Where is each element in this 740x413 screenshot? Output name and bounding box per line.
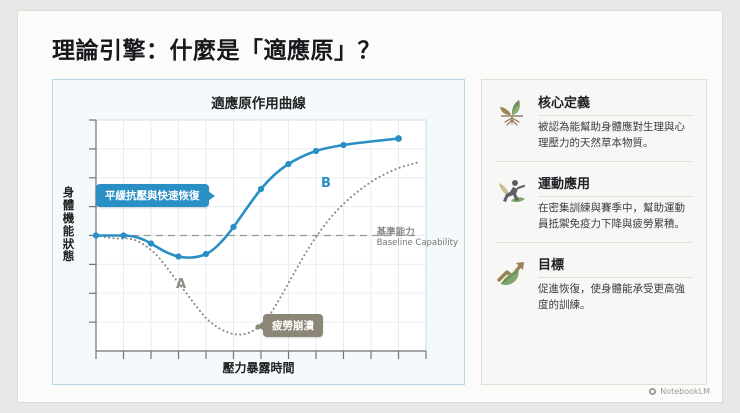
info-card-body: 目標 促進恢復，使身體能承受更高強度的訓練。 xyxy=(538,254,693,314)
plant-roots-icon xyxy=(495,94,529,128)
info-card-goal: 目標 促進恢復，使身體能承受更高強度的訓練。 xyxy=(495,242,693,314)
curve-label-b: B xyxy=(321,176,331,191)
info-card-core-definition: 核心定義 被認為能幫助身體應對生理與心理壓力的天然草本物質。 xyxy=(495,92,693,152)
runner-herb-icon xyxy=(495,175,529,209)
notebooklm-logo-icon xyxy=(648,387,657,396)
baseline-label-en: Baseline Capability xyxy=(377,239,458,249)
info-panel: 核心定義 被認為能幫助身體應對生理與心理壓力的天然草本物質。 運動應用 在密集訓… xyxy=(481,79,707,385)
chart-panel: 適應原作用曲線 身體機能狀態 壓力暴露時間 xyxy=(52,79,465,385)
info-card-title: 運動應用 xyxy=(538,173,693,197)
callout-blue-recovery: 平緩抗壓與快速恢復 xyxy=(96,184,209,207)
page-title: 理論引擎：什麼是「適應原」？ xyxy=(52,31,381,65)
notebooklm-watermark-label: NotebookLM xyxy=(660,387,710,396)
slide-card: 理論引擎：什麼是「適應原」？ 適應原作用曲線 身體機能狀態 壓力暴露時間 xyxy=(17,10,723,403)
info-card-text: 被認為能幫助身體應對生理與心理壓力的天然草本物質。 xyxy=(538,120,693,152)
callout-gray-collapse: 疲勞崩潰 xyxy=(263,314,323,337)
curve-label-a: A xyxy=(176,277,186,292)
info-card-title: 目標 xyxy=(538,254,693,278)
info-card-sports-application: 運動應用 在密集訓練與賽季中，幫助運動員抵禦免疫力下降與疲勞累積。 xyxy=(495,161,693,233)
chart-baseline-label: 基準能力 Baseline Capability xyxy=(377,228,458,249)
info-card-body: 運動應用 在密集訓練與賽季中，幫助運動員抵禦免疫力下降與疲勞累積。 xyxy=(538,173,693,233)
notebooklm-watermark: NotebookLM xyxy=(648,387,710,396)
info-card-text: 促進恢復，使身體能承受更高強度的訓練。 xyxy=(538,282,693,314)
info-card-title: 核心定義 xyxy=(538,92,693,116)
growth-arrow-leaf-icon xyxy=(495,256,529,290)
info-card-body: 核心定義 被認為能幫助身體應對生理與心理壓力的天然草本物質。 xyxy=(538,92,693,152)
info-card-text: 在密集訓練與賽季中，幫助運動員抵禦免疫力下降與疲勞累積。 xyxy=(538,201,693,233)
